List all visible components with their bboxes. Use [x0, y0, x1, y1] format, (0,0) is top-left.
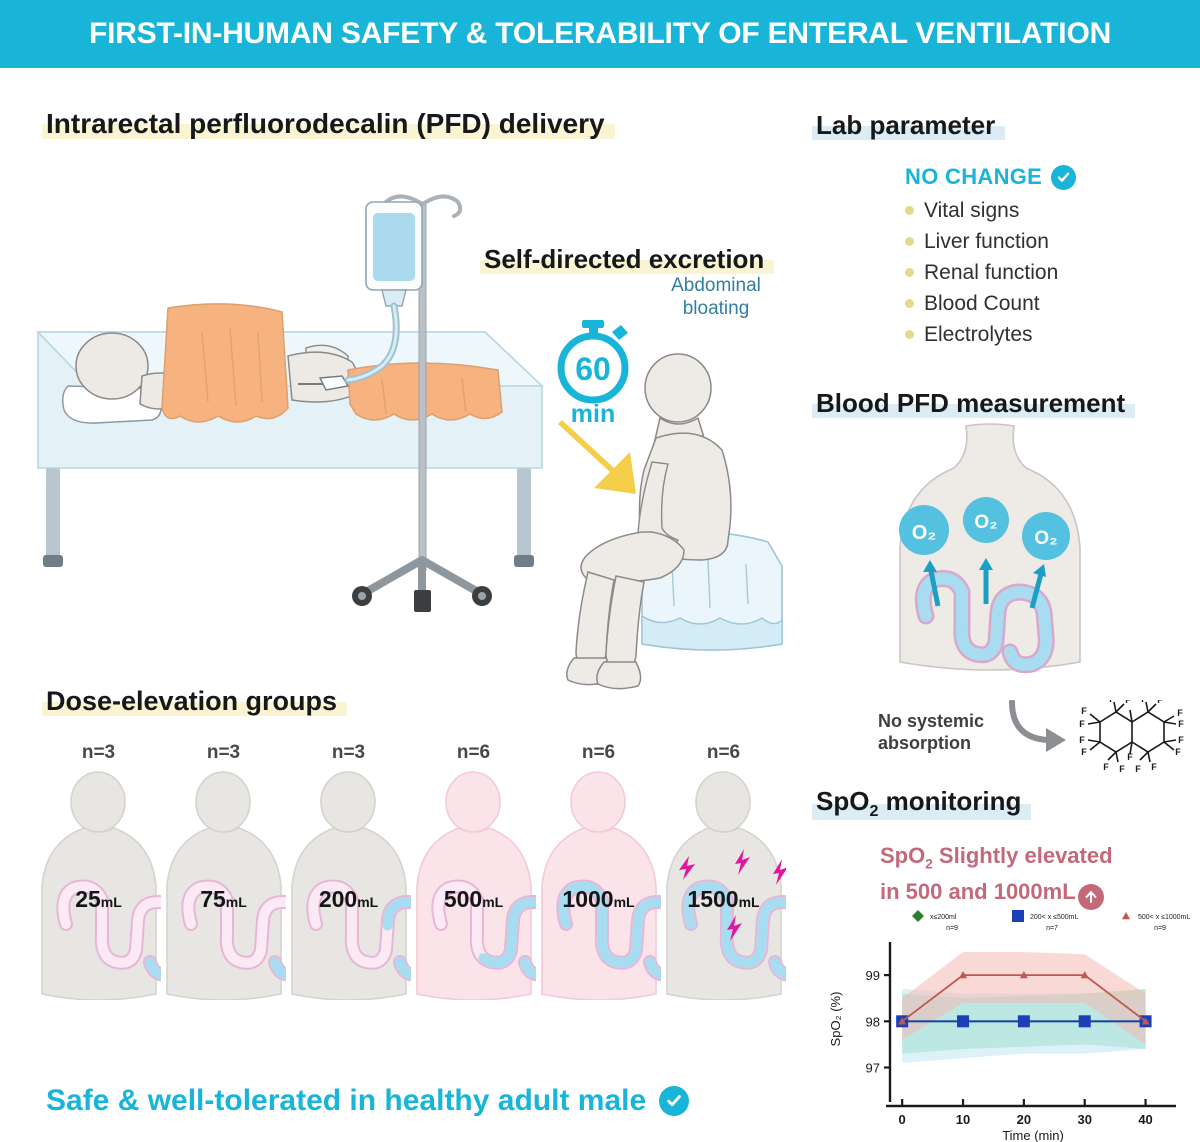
dose-value: 1000: [562, 886, 613, 912]
title-banner: FIRST-IN-HUMAN SAFETY & TOLERABILITY OF …: [0, 0, 1200, 68]
lab-item-label: Blood Count: [924, 288, 1040, 319]
svg-text:F: F: [1103, 762, 1109, 772]
lab-item-label: Electrolytes: [924, 319, 1033, 350]
lab-status: NO CHANGE: [905, 164, 1195, 190]
chart-legend-entry: 200< x ≤500mLn=7: [1012, 910, 1079, 932]
svg-text:F: F: [1141, 700, 1147, 704]
y-tick-label: 98: [866, 1014, 880, 1029]
y-tick-label: 99: [866, 968, 880, 983]
dose-amount: 500mL: [411, 886, 536, 913]
dose-amount: 200mL: [286, 886, 411, 913]
svg-text:O₂: O₂: [974, 512, 997, 533]
heading-dose-groups: Dose-elevation groups: [42, 686, 341, 717]
heading-excretion: Self-directed excretion: [480, 244, 768, 275]
heading-excretion-label: Self-directed excretion: [480, 244, 768, 275]
svg-text:F: F: [1178, 719, 1184, 729]
dose-body-figure: 25mL: [36, 768, 161, 1000]
dose-body-figure: 75mL: [161, 768, 286, 1000]
svg-text:F: F: [1157, 700, 1163, 705]
dose-group-n: n=3: [161, 742, 286, 764]
heading-lab-parameter: Lab parameter: [812, 110, 999, 141]
dose-value: 500: [444, 886, 482, 912]
heading-delivery-label: Intrarectal perfluorodecalin (PFD) deliv…: [42, 108, 609, 140]
conclusion-tagline: Safe & well-tolerated in healthy adult m…: [46, 1084, 689, 1118]
dose-body-figure: 1000mL: [536, 768, 661, 1000]
seated-excretion-illustration: [556, 352, 806, 700]
svg-text:F: F: [1125, 700, 1131, 705]
dose-amount: 1500mL: [661, 886, 786, 913]
dose-amount: 75mL: [161, 886, 286, 913]
dose-body-figure: 500mL: [411, 768, 536, 1000]
dose-group: n=325mL: [36, 742, 161, 1000]
svg-text:F: F: [1127, 752, 1133, 762]
dose-body-figure: 200mL: [286, 768, 411, 1000]
x-tick-label: 30: [1077, 1112, 1091, 1127]
svg-text:F: F: [1177, 708, 1183, 718]
heading-delivery: Intrarectal perfluorodecalin (PFD) deliv…: [42, 108, 609, 140]
svg-text:O₂: O₂: [1034, 528, 1057, 549]
svg-text:F: F: [1135, 764, 1141, 774]
chart-legend-entry: 500< x ≤1000mLn=9: [1122, 912, 1190, 932]
bullet-dot-icon: [905, 237, 914, 246]
spo2-line-chart: 979899SpO₂ (%)010203040Time (min)x≤200ml…: [824, 900, 1190, 1142]
heading-blood-pfd: Blood PFD measurement: [812, 388, 1129, 419]
dose-group-n: n=6: [661, 742, 786, 764]
tagline-label: Safe & well-tolerated in healthy adult m…: [46, 1084, 646, 1118]
lab-list-item: Electrolytes: [905, 319, 1195, 350]
x-axis-label: Time (min): [1002, 1128, 1064, 1142]
dose-value: 75: [200, 886, 226, 912]
dose-unit: mL: [101, 894, 122, 910]
svg-text:F: F: [1178, 735, 1184, 745]
dose-unit: mL: [739, 894, 760, 910]
dose-unit: mL: [482, 894, 503, 910]
check-circle-icon: [659, 1086, 689, 1116]
svg-text:F: F: [1109, 700, 1115, 704]
dose-amount: 1000mL: [536, 886, 661, 913]
dose-amount: 25mL: [36, 886, 161, 913]
svg-text:F: F: [1079, 719, 1085, 729]
lab-item-label: Renal function: [924, 257, 1058, 288]
patient-bed-illustration: [30, 180, 550, 650]
svg-text:F: F: [1081, 706, 1087, 716]
bullet-dot-icon: [905, 299, 914, 308]
dose-elevation-groups: n=325mLn=375mLn=3200mLn=6500mLn=61000mLn…: [36, 742, 796, 1032]
svg-text:F: F: [1151, 762, 1157, 772]
lab-item-label: Liver function: [924, 226, 1049, 257]
dose-group: n=61000mL: [536, 742, 661, 1000]
heading-pfd-label: Blood PFD measurement: [812, 388, 1129, 419]
y-tick-label: 97: [866, 1061, 880, 1076]
bullet-dot-icon: [905, 268, 914, 277]
check-circle-icon: [1051, 165, 1076, 190]
legend-label: 200< x ≤500mL: [1030, 914, 1079, 921]
dose-group-n: n=3: [286, 742, 411, 764]
heading-lab-label: Lab parameter: [812, 110, 999, 141]
heading-dose-label: Dose-elevation groups: [42, 686, 341, 717]
page-title: FIRST-IN-HUMAN SAFETY & TOLERABILITY OF …: [89, 17, 1111, 51]
dose-group: n=6500mL: [411, 742, 536, 1000]
dose-group: n=375mL: [161, 742, 286, 1000]
lab-item-label: Vital signs: [924, 195, 1019, 226]
legend-label: x≤200ml: [930, 914, 957, 921]
dose-unit: mL: [357, 894, 378, 910]
dose-value: 25: [75, 886, 101, 912]
dose-value: 1500: [687, 886, 738, 912]
dose-body-figure: 1500mL: [661, 768, 786, 1000]
perfluorodecalin-molecule-icon: FFFF FF FF FF FF FFFF F: [1074, 700, 1186, 782]
lab-status-label: NO CHANGE: [905, 164, 1042, 190]
svg-text:F: F: [1175, 747, 1181, 757]
x-tick-label: 10: [956, 1112, 970, 1127]
no-systemic-absorption-label: No systemic absorption: [878, 710, 1008, 754]
bullet-dot-icon: [905, 330, 914, 339]
bullet-dot-icon: [905, 206, 914, 215]
svg-text:F: F: [1081, 747, 1087, 757]
dose-group: n=61500mL: [661, 742, 786, 1000]
legend-n: n=9: [1154, 925, 1166, 932]
y-axis-label: SpO₂ (%): [828, 992, 843, 1047]
x-tick-label: 0: [899, 1112, 906, 1127]
lab-parameter-list: Vital signsLiver functionRenal functionB…: [905, 195, 1195, 350]
legend-n: n=7: [1046, 925, 1058, 932]
dose-unit: mL: [614, 894, 635, 910]
lab-list-item: Liver function: [905, 226, 1195, 257]
dose-group-n: n=6: [536, 742, 661, 764]
lab-list-item: Renal function: [905, 257, 1195, 288]
chart-legend-entry: x≤200mln=9: [912, 910, 958, 932]
blood-pfd-illustration: O₂ O₂ O₂: [880, 420, 1100, 720]
abdominal-bloating-note: Abdominal bloating: [636, 274, 796, 320]
dose-unit: mL: [226, 894, 247, 910]
svg-text:F: F: [1079, 735, 1085, 745]
curved-arrow-icon: [1002, 700, 1078, 760]
x-tick-label: 40: [1138, 1112, 1152, 1127]
lab-parameter-block: NO CHANGE Vital signsLiver functionRenal…: [905, 164, 1195, 350]
heading-spo2-label: SpO2 monitoring: [812, 786, 1025, 821]
lab-list-item: Blood Count: [905, 288, 1195, 319]
dose-value: 200: [319, 886, 357, 912]
lab-list-item: Vital signs: [905, 195, 1195, 226]
svg-text:F: F: [1119, 764, 1125, 774]
svg-text:O₂: O₂: [912, 522, 936, 544]
dose-group-n: n=3: [36, 742, 161, 764]
legend-n: n=9: [946, 925, 958, 932]
heading-spo2-monitoring: SpO2 monitoring: [812, 786, 1025, 821]
legend-label: 500< x ≤1000mL: [1138, 914, 1190, 921]
dose-group: n=3200mL: [286, 742, 411, 1000]
x-tick-label: 20: [1017, 1112, 1031, 1127]
dose-group-n: n=6: [411, 742, 536, 764]
